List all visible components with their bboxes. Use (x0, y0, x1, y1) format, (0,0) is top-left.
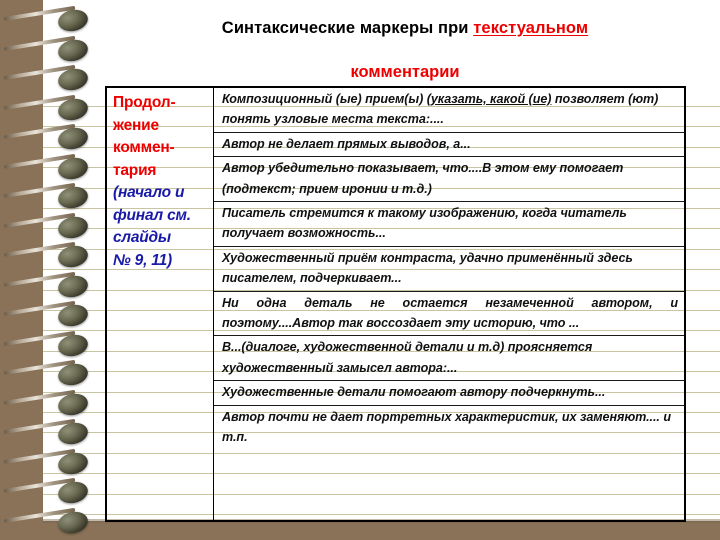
left-label-line-3: коммен- (113, 137, 209, 160)
spiral-ring (0, 95, 105, 125)
spiral-ring (0, 154, 105, 184)
markers-table: Продол- жение коммен- тария (начало и фи… (105, 86, 686, 522)
spiral-ring (0, 449, 105, 479)
spiral-ring (0, 331, 105, 361)
row-text: Художественный приём контраста, удачно п… (222, 251, 633, 285)
spiral-binding (0, 0, 110, 540)
row-text: В...(диалоге, художественной детали и т.… (222, 340, 592, 374)
spiral-ring (0, 478, 105, 508)
table-row: В...(диалоге, художественной детали и т.… (214, 336, 684, 381)
left-label-line-2: жение (113, 115, 209, 138)
table-row: Ни одна деталь не остается незамеченной … (214, 292, 684, 337)
spiral-ring (0, 390, 105, 420)
spiral-ring (0, 272, 105, 302)
row-text: Автор не делает прямых выводов, а... (222, 137, 471, 151)
spiral-ring (0, 65, 105, 95)
table-left-cell: Продол- жение коммен- тария (начало и фи… (107, 88, 214, 520)
spiral-ring (0, 124, 105, 154)
spiral-ring (0, 508, 105, 538)
spiral-ring (0, 213, 105, 243)
spiral-ring (0, 183, 105, 213)
row-text: Художественные детали помогают автору по… (222, 385, 605, 399)
page-title-plain: Синтаксические маркеры при (222, 19, 473, 37)
row-text-underlined: (указать, какой (ие) (427, 92, 552, 106)
left-label-line-4: тария (113, 160, 209, 183)
row-text: Автор почти не дает портретных характери… (222, 410, 671, 444)
table-row: Художественные детали помогают автору по… (214, 381, 684, 405)
row-text: Писатель стремится к такому изображению,… (222, 206, 627, 240)
left-label-line-8: № 9, 11) (113, 250, 209, 273)
spiral-ring (0, 419, 105, 449)
left-label-line-5: (начало и (113, 182, 209, 205)
left-label-line-6: финал см. (113, 205, 209, 228)
row-text: Автор убедительно показывает, что....В э… (222, 161, 623, 195)
table-row: Писатель стремится к такому изображению,… (214, 202, 684, 247)
table-right-column: Композиционный (ые) прием(ы) (указать, к… (214, 88, 684, 520)
spiral-ring (0, 301, 105, 331)
page-subtitle: комментарии (105, 62, 705, 83)
spiral-ring (0, 360, 105, 390)
table-row: Автор убедительно показывает, что....В э… (214, 157, 684, 202)
page-title: Синтаксические маркеры при текстуальном (105, 18, 705, 39)
row-text: Композиционный (ые) прием(ы) (222, 92, 427, 106)
page-title-highlight: текстуальном (473, 19, 588, 37)
left-label-line-1: Продол- (113, 92, 209, 115)
spiral-ring (0, 6, 105, 36)
table-row: Художественный приём контраста, удачно п… (214, 247, 684, 292)
row-text: Ни одна деталь не остается незамеченной … (222, 296, 678, 330)
spiral-ring (0, 36, 105, 66)
table-row: Композиционный (ые) прием(ы) (указать, к… (214, 88, 684, 133)
spiral-ring (0, 242, 105, 272)
table-row: Автор не делает прямых выводов, а... (214, 133, 684, 157)
table-row: Автор почти не дает портретных характери… (214, 406, 684, 450)
left-label-line-7: слайды (113, 227, 209, 250)
